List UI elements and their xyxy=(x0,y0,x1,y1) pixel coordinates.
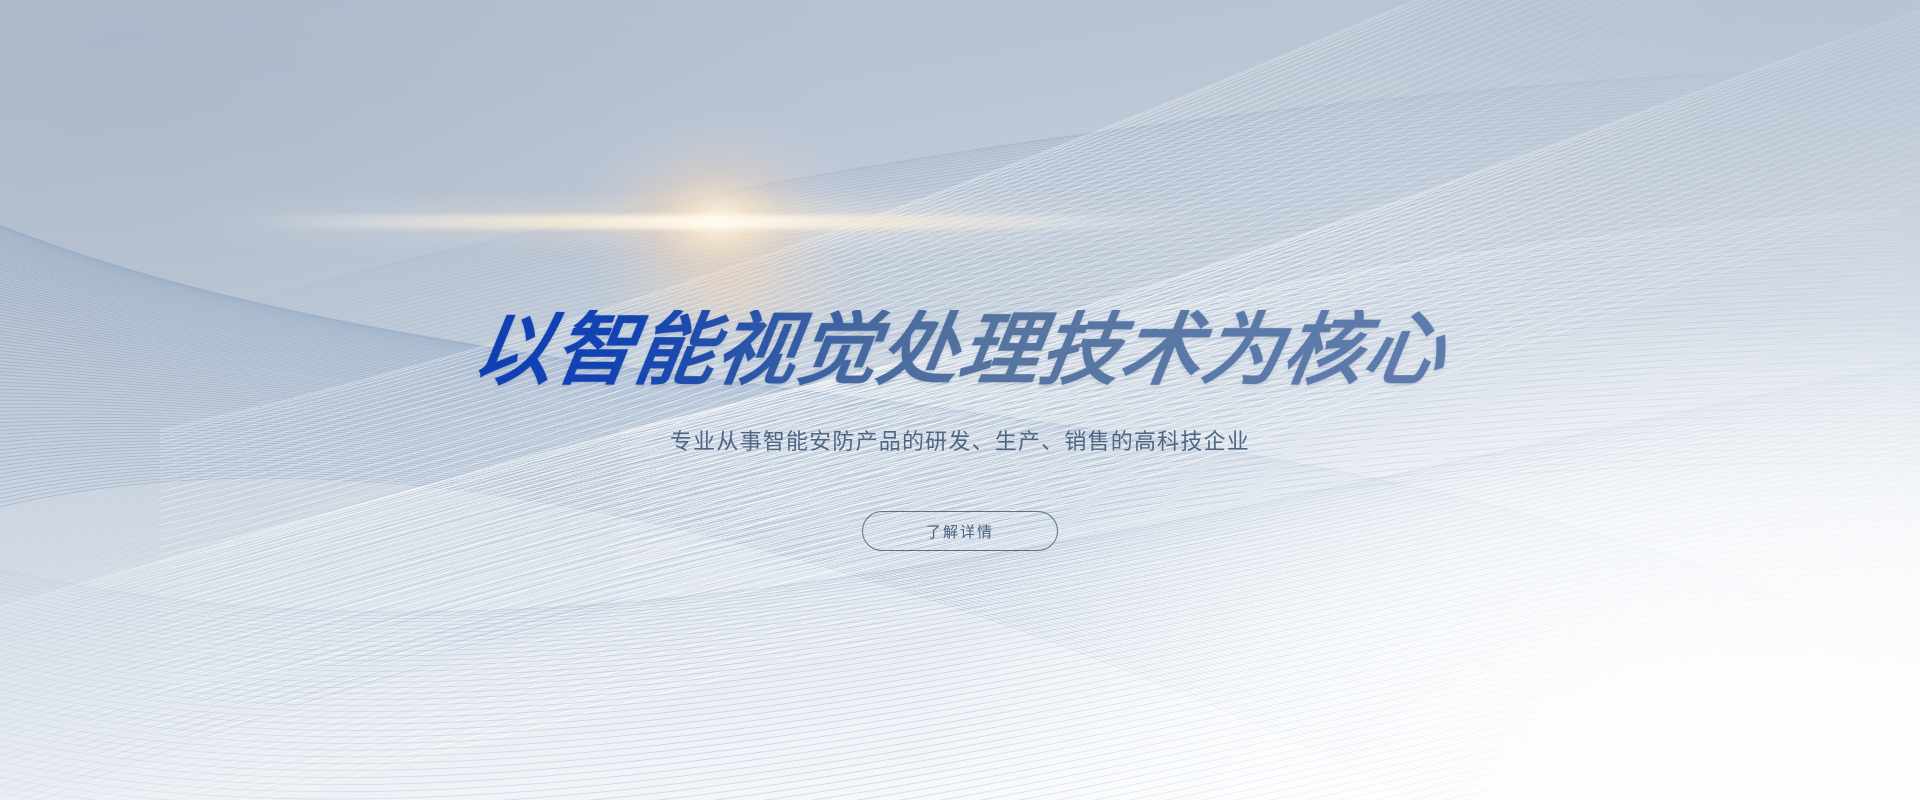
hero-banner: 以智能视觉处理技术为核心 专业从事智能安防产品的研发、生产、销售的高科技企业 了… xyxy=(0,0,1920,800)
hero-content: 以智能视觉处理技术为核心 专业从事智能安防产品的研发、生产、销售的高科技企业 了… xyxy=(0,0,1920,800)
hero-subtitle: 专业从事智能安防产品的研发、生产、销售的高科技企业 xyxy=(0,425,1920,459)
hero-headline: 以智能视觉处理技术为核心 xyxy=(0,310,1920,390)
learn-more-button[interactable]: 了解详情 xyxy=(862,511,1058,551)
